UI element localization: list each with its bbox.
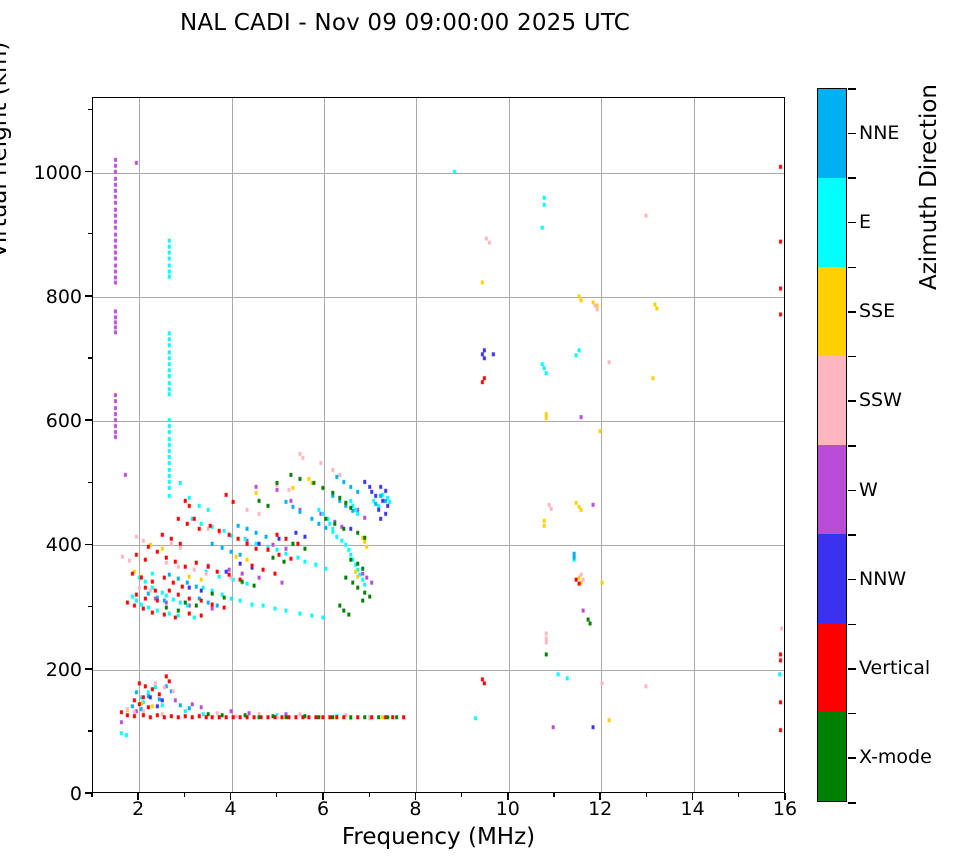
x-tick-minor [184, 793, 185, 797]
colorbar-segment-nnw[interactable] [818, 534, 846, 623]
x-tick-minor [461, 793, 462, 797]
colorbar-boundary-tick [848, 624, 856, 626]
x-tick-mark [230, 793, 232, 800]
colorbar-label-vertical: Vertical [859, 657, 930, 679]
y-tick-mark [85, 668, 92, 670]
x-tick-minor [276, 793, 277, 797]
x-tick-label: 8 [392, 798, 438, 820]
colorbar-label-w: W [859, 479, 878, 501]
x-tick-minor [369, 793, 370, 797]
colorbar-title: Azimuth Direction [916, 0, 942, 290]
y-tick-minor [88, 482, 92, 483]
colorbar-label-nnw: NNW [859, 568, 906, 590]
colorbar-segment-e[interactable] [818, 178, 846, 267]
colorbar-tick-mark [848, 579, 856, 581]
y-tick-label: 0 [30, 783, 82, 805]
colorbar-tick-mark [848, 133, 856, 135]
x-tick-label: 2 [115, 798, 161, 820]
colorbar-label-x-mode: X-mode [859, 746, 932, 768]
y-tick-minor [88, 233, 92, 234]
colorbar-segment-vertical[interactable] [818, 623, 846, 712]
colorbar-boundary-tick [848, 267, 856, 269]
colorbar-tick-mark [848, 311, 856, 313]
ionogram-scatter-canvas [93, 98, 784, 792]
colorbar-segment-ssw[interactable] [818, 356, 846, 445]
y-tick-label: 200 [30, 659, 82, 681]
y-tick-mark [85, 295, 92, 297]
x-tick-mark [415, 793, 417, 800]
x-tick-mark [599, 793, 601, 800]
y-tick-label: 400 [30, 534, 82, 556]
x-tick-label: 16 [762, 798, 808, 820]
colorbar-tick-mark [848, 400, 856, 402]
y-tick-mark [85, 544, 92, 546]
colorbar-boundary-tick [848, 356, 856, 358]
x-tick-label: 6 [300, 798, 346, 820]
x-tick-label: 4 [208, 798, 254, 820]
colorbar-tick-mark [848, 222, 856, 224]
azimuth-colorbar [817, 88, 847, 802]
colorbar-boundary-tick [848, 445, 856, 447]
x-tick-label: 14 [670, 798, 716, 820]
x-axis-label: Frequency (MHz) [92, 824, 785, 850]
y-tick-label: 600 [30, 410, 82, 432]
x-tick-mark [322, 793, 324, 800]
y-tick-label: 800 [30, 286, 82, 308]
colorbar-label-nne: NNE [859, 122, 899, 144]
y-tick-mark [85, 171, 92, 173]
x-tick-mark [784, 793, 786, 800]
colorbar-boundary-tick [848, 534, 856, 536]
y-tick-minor [88, 606, 92, 607]
colorbar-segment-x-mode[interactable] [818, 712, 846, 801]
colorbar-label-e: E [859, 211, 871, 233]
x-tick-label: 10 [485, 798, 531, 820]
y-tick-label: 1000 [30, 162, 82, 184]
x-tick-mark [507, 793, 509, 800]
colorbar-boundary-tick [848, 177, 856, 179]
colorbar-label-ssw: SSW [859, 389, 902, 411]
y-tick-minor [88, 357, 92, 358]
x-tick-minor [738, 793, 739, 797]
x-tick-mark [137, 793, 139, 800]
colorbar-tick-mark [848, 490, 856, 492]
colorbar-segment-sse[interactable] [818, 267, 846, 356]
colorbar-segment-nne[interactable] [818, 89, 846, 178]
plot-area [92, 97, 785, 793]
y-axis-label: Virtual height (km) [0, 0, 12, 300]
page-title: NAL CADI - Nov 09 09:00:00 2025 UTC [0, 10, 810, 36]
colorbar-boundary-tick [848, 88, 856, 90]
colorbar-tick-mark [848, 757, 856, 759]
x-tick-label: 12 [577, 798, 623, 820]
x-tick-minor [553, 793, 554, 797]
x-tick-minor [646, 793, 647, 797]
colorbar-segment-w[interactable] [818, 445, 846, 534]
y-tick-mark [85, 419, 92, 421]
colorbar-boundary-tick [848, 713, 856, 715]
colorbar-tick-mark [848, 668, 856, 670]
colorbar-label-sse: SSE [859, 300, 895, 322]
x-tick-mark [692, 793, 694, 800]
x-tick-minor [91, 793, 92, 797]
ionogram-page: NAL CADI - Nov 09 09:00:00 2025 UTC 0200… [0, 0, 958, 857]
y-tick-minor [88, 730, 92, 731]
y-tick-minor [88, 109, 92, 110]
colorbar-boundary-tick [848, 802, 856, 804]
